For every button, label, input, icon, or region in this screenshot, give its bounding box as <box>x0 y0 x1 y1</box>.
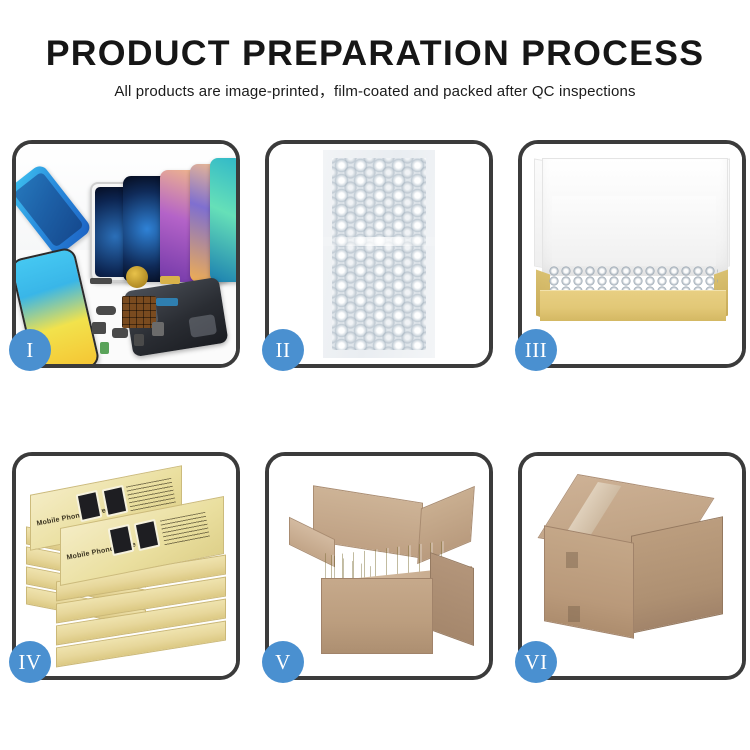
open-mailer-box-icon <box>522 144 742 364</box>
step-badge-4: IV <box>9 641 51 683</box>
step-panel-6: VI <box>518 452 746 680</box>
page-subtitle: All products are image-printed，film-coat… <box>0 82 750 102</box>
phone-parts-collage-icon <box>16 144 236 364</box>
step-badge-1: I <box>9 329 51 371</box>
stacked-retail-boxes-icon: Mobile Phone Spare Parts Mobile Phone Sp… <box>16 456 236 676</box>
step-badge-6: VI <box>515 641 557 683</box>
bubble-wrap-pouch-icon <box>269 144 489 364</box>
step-5-image <box>269 456 489 676</box>
step-6-image <box>522 456 742 676</box>
step-4-image: Mobile Phone Spare Parts Mobile Phone Sp… <box>16 456 236 676</box>
step-badge-5: V <box>262 641 304 683</box>
small-parts-icon <box>90 262 200 354</box>
header: PRODUCT PREPARATION PROCESS All products… <box>0 34 750 102</box>
step-panel-1: I <box>12 140 240 368</box>
step-panel-5: V <box>265 452 493 680</box>
step-panel-3: III <box>518 140 746 368</box>
product-preparation-infographic: PRODUCT PREPARATION PROCESS All products… <box>0 0 750 750</box>
step-panel-2: II <box>265 140 493 368</box>
step-badge-3: III <box>515 329 557 371</box>
step-panel-4: Mobile Phone Spare Parts Mobile Phone Sp… <box>12 452 240 680</box>
step-3-image <box>522 144 742 364</box>
step-badge-2: II <box>262 329 304 371</box>
step-2-image <box>269 144 489 364</box>
open-shipping-carton-icon <box>269 456 489 676</box>
sealed-carton-icon <box>522 456 742 676</box>
steps-grid: I II <box>12 140 738 680</box>
page-title: PRODUCT PREPARATION PROCESS <box>0 34 750 74</box>
bubble-wrapped-contents-icon <box>548 266 718 292</box>
step-1-image <box>16 144 236 364</box>
